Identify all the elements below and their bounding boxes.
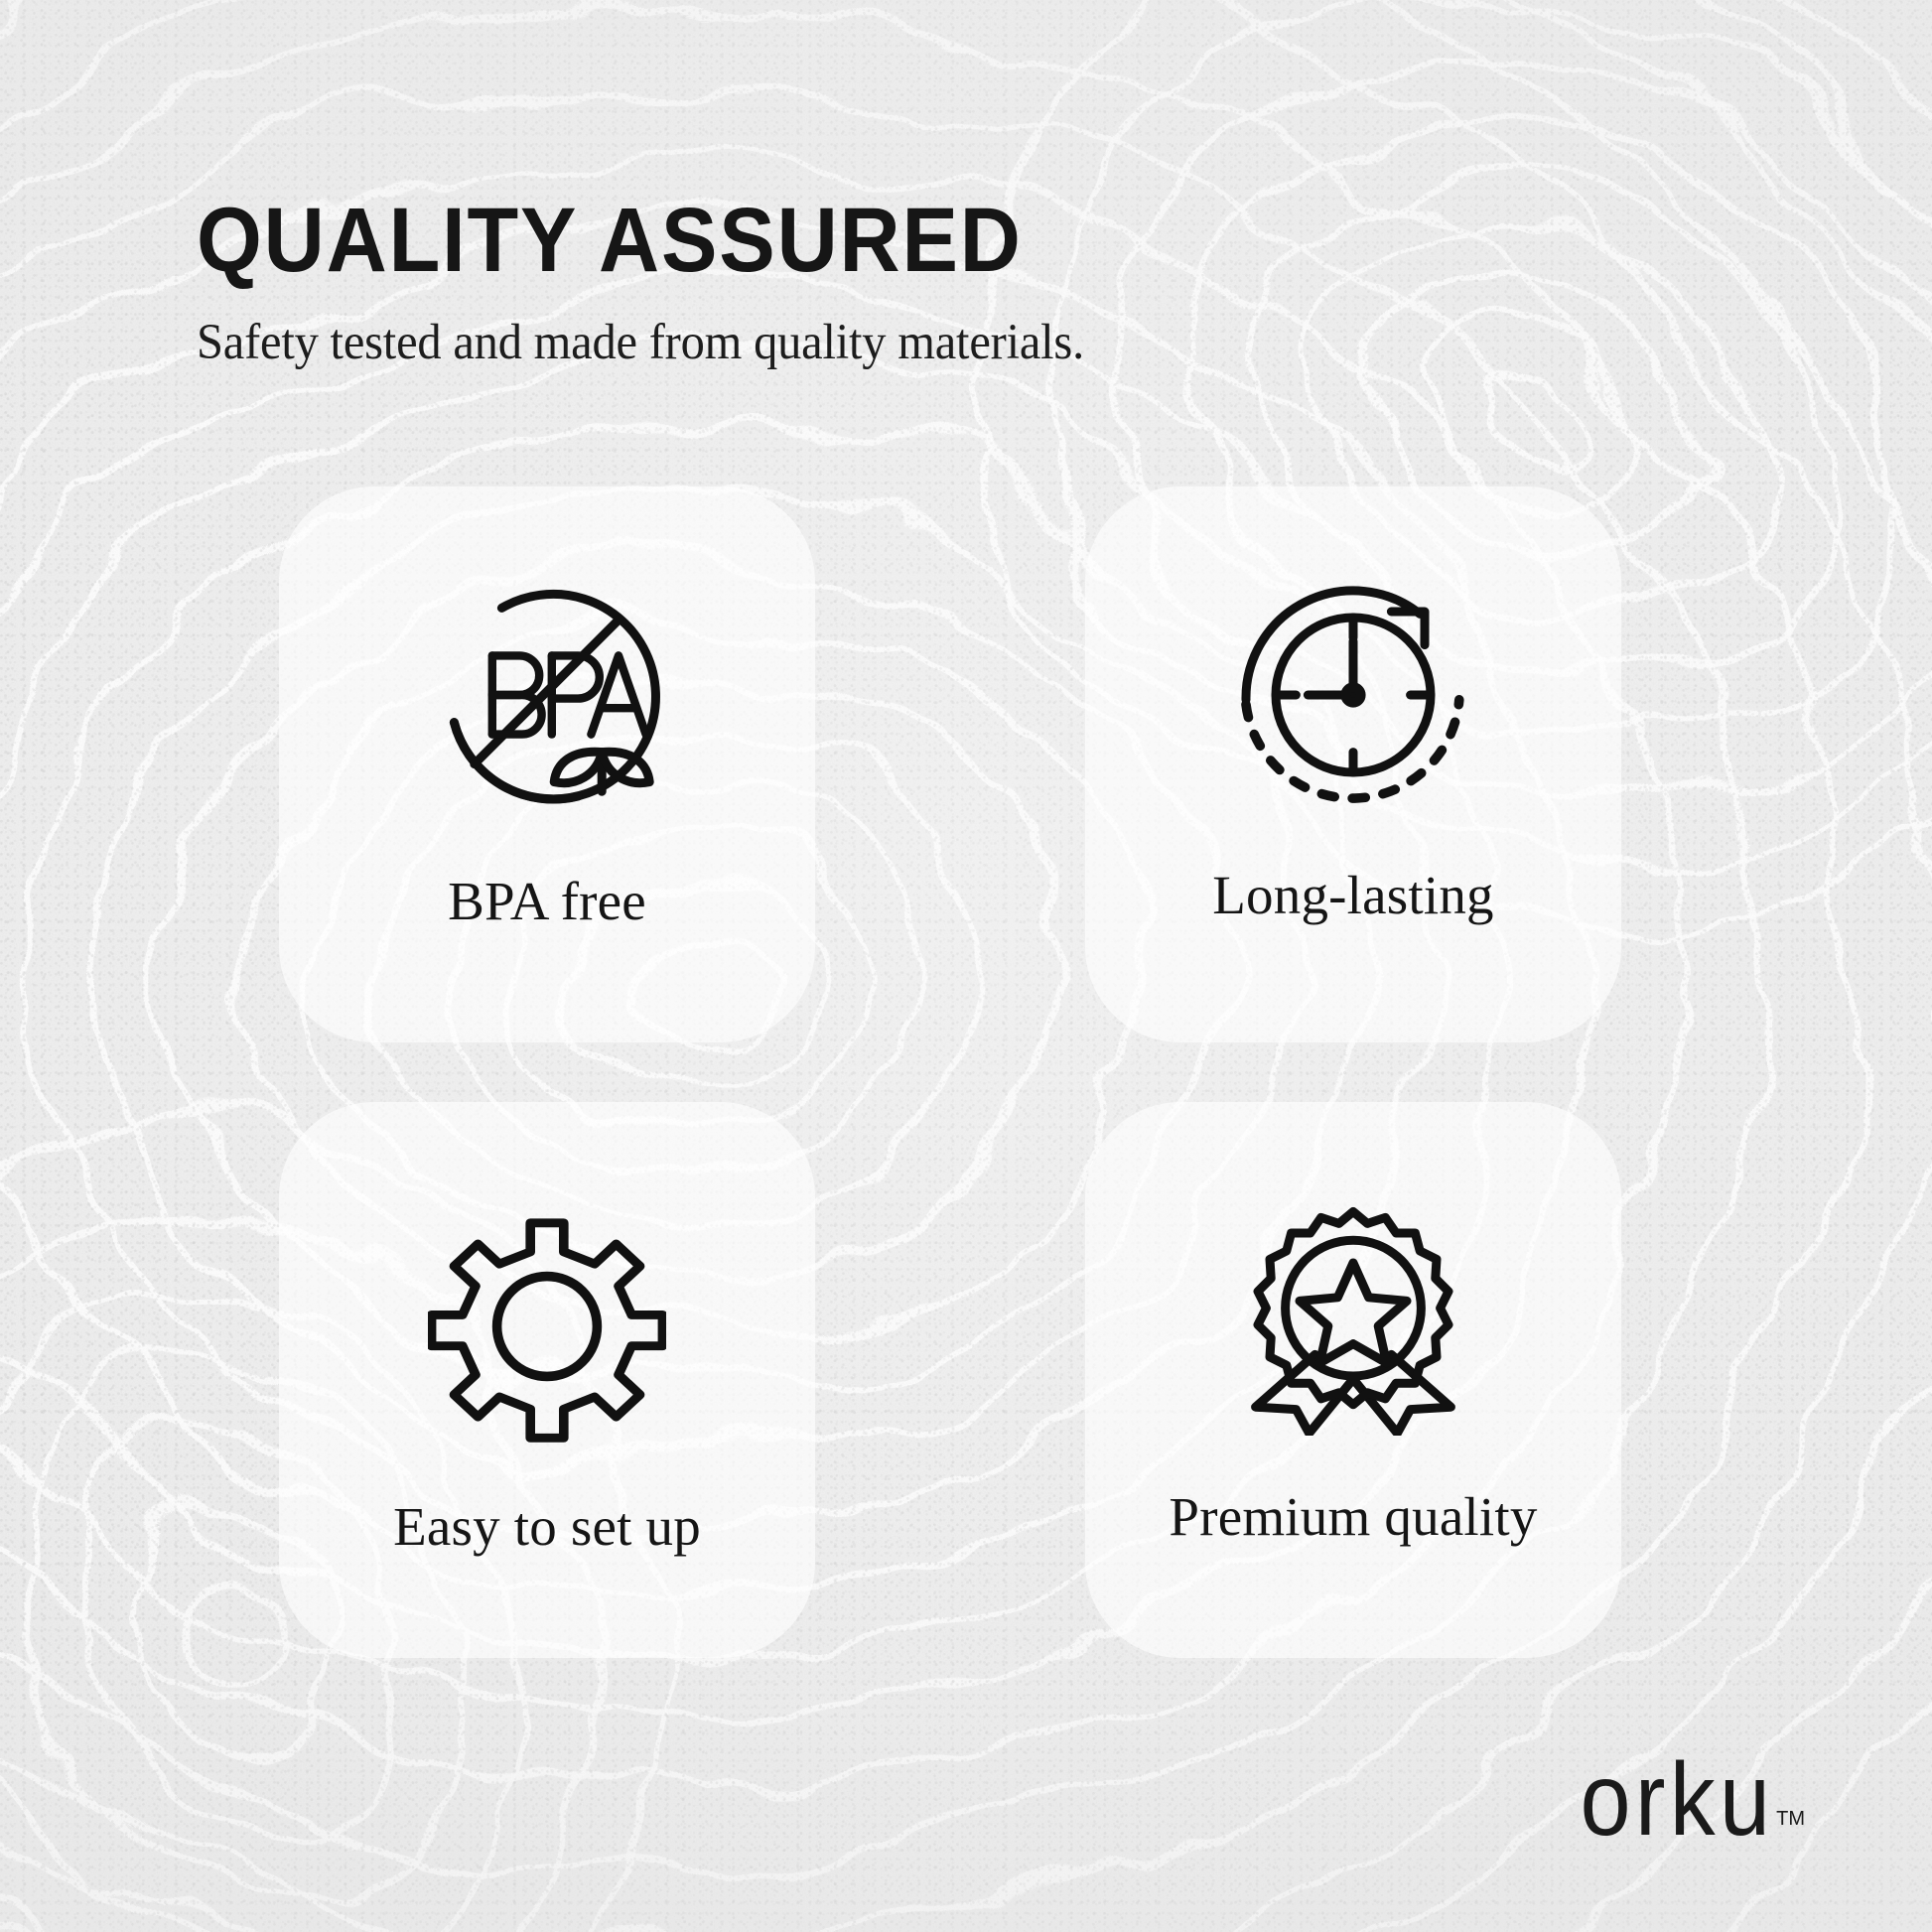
header-block: QUALITY ASSURED Safety tested and made f… [197,195,1487,368]
brand-logo: orku TM [1554,1755,1805,1847]
bpa-free-icon [428,582,666,820]
award-ribbon-icon [1234,1197,1472,1436]
feature-label-premium-quality: Premium quality [1169,1489,1537,1544]
feature-card-premium-quality[interactable]: Premium quality [1085,1102,1621,1658]
feature-card-easy-to-set-up[interactable]: Easy to set up [279,1102,815,1658]
clock-refresh-icon [1234,576,1472,814]
feature-label-bpa-free: BPA free [448,874,646,928]
page-title: QUALITY ASSURED [197,195,1384,286]
feature-label-easy-to-set-up: Easy to set up [393,1499,701,1554]
feature-card-bpa-free[interactable]: BPA free [279,486,815,1042]
feature-label-long-lasting: Long-lasting [1212,868,1493,922]
infographic-content: QUALITY ASSURED Safety tested and made f… [0,0,1932,1932]
gear-icon [428,1207,666,1446]
feature-card-long-lasting[interactable]: Long-lasting [1085,486,1621,1042]
brand-wordmark: orku [1580,1755,1774,1847]
feature-grid: BPA free [279,486,1621,1658]
trademark-symbol: TM [1776,1808,1805,1831]
page-subtitle: Safety tested and made from quality mate… [197,318,1423,368]
